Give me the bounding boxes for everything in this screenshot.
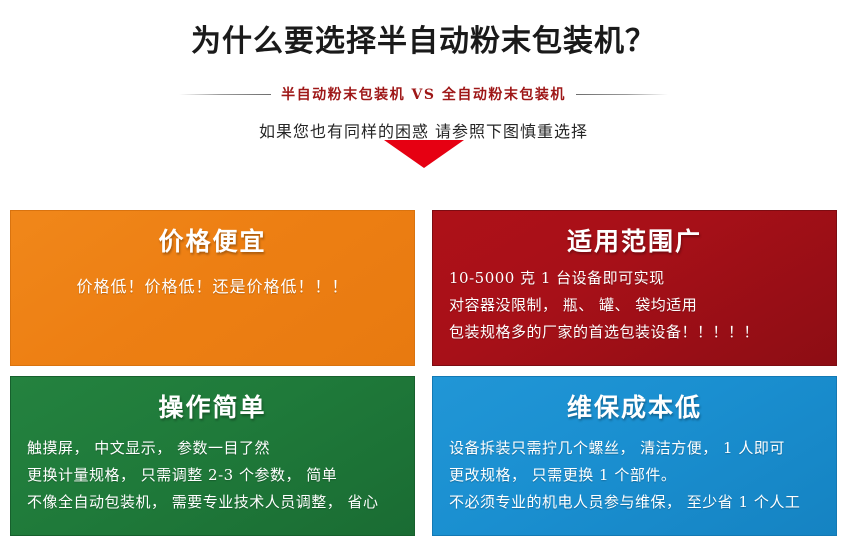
panel-body-maintenance: 设备拆装只需拧几个螺丝， 清洁方便， 1 人即可 更改规格， 只需更换 1 个部…	[449, 435, 820, 516]
feature-panel-operation: 操作简单 触摸屏， 中文显示， 参数一目了然 更换计量规格， 只需调整 2-3 …	[10, 376, 415, 536]
down-triangle-icon	[384, 140, 464, 168]
arrow-container	[0, 136, 847, 166]
page-header: 为什么要选择半自动粉末包装机？ 半自动粉末包装机 VS 全自动粉末包装机 如果您…	[0, 0, 847, 166]
panel-body-price: 价格低！价格低！还是价格低！！！	[27, 273, 398, 300]
panel-line: 不必须专业的机电人员参与维保， 至少省 1 个人工	[449, 489, 820, 516]
page-title: 为什么要选择半自动粉末包装机？	[0, 22, 847, 62]
panel-line: 10-5000 克 1 台设备即可实现	[449, 265, 820, 292]
panel-title-maintenance: 维保成本低	[449, 391, 820, 425]
panel-line: 触摸屏， 中文显示， 参数一目了然	[27, 435, 398, 462]
feature-panel-price: 价格便宜 价格低！价格低！还是价格低！！！	[10, 210, 415, 366]
panel-line: 对容器没限制， 瓶、 罐、 袋均适用	[449, 292, 820, 319]
panel-line: 设备拆装只需拧几个螺丝， 清洁方便， 1 人即可	[449, 435, 820, 462]
subtitle-row: 半自动粉末包装机 VS 全自动粉末包装机	[0, 84, 847, 104]
panel-line: 更换计量规格， 只需调整 2-3 个参数， 简单	[27, 462, 398, 489]
feature-panel-maintenance: 维保成本低 设备拆装只需拧几个螺丝， 清洁方便， 1 人即可 更改规格， 只需更…	[432, 376, 837, 536]
subtitle-text: 半自动粉末包装机 VS 全自动粉末包装机	[281, 84, 566, 104]
divider-line-right	[576, 94, 668, 95]
promo-page: 为什么要选择半自动粉末包装机？ 半自动粉末包装机 VS 全自动粉末包装机 如果您…	[0, 0, 847, 558]
divider-line-left	[179, 94, 271, 95]
panel-line: 更改规格， 只需更换 1 个部件。	[449, 462, 820, 489]
panel-title-range: 适用范围广	[449, 225, 820, 259]
panel-title-price: 价格便宜	[27, 225, 398, 259]
feature-panel-grid: 价格便宜 价格低！价格低！还是价格低！！！ 适用范围广 10-5000 克 1 …	[10, 210, 837, 536]
panel-title-operation: 操作简单	[27, 391, 398, 425]
panel-line: 价格低！价格低！还是价格低！！！	[27, 273, 398, 300]
panel-line: 包装规格多的厂家的首选包装设备！！！！！	[449, 319, 820, 346]
panel-body-range: 10-5000 克 1 台设备即可实现 对容器没限制， 瓶、 罐、 袋均适用 包…	[449, 265, 820, 346]
feature-panel-range: 适用范围广 10-5000 克 1 台设备即可实现 对容器没限制， 瓶、 罐、 …	[432, 210, 837, 366]
panel-line: 不像全自动包装机， 需要专业技术人员调整， 省心	[27, 489, 398, 516]
panel-body-operation: 触摸屏， 中文显示， 参数一目了然 更换计量规格， 只需调整 2-3 个参数， …	[27, 435, 398, 516]
